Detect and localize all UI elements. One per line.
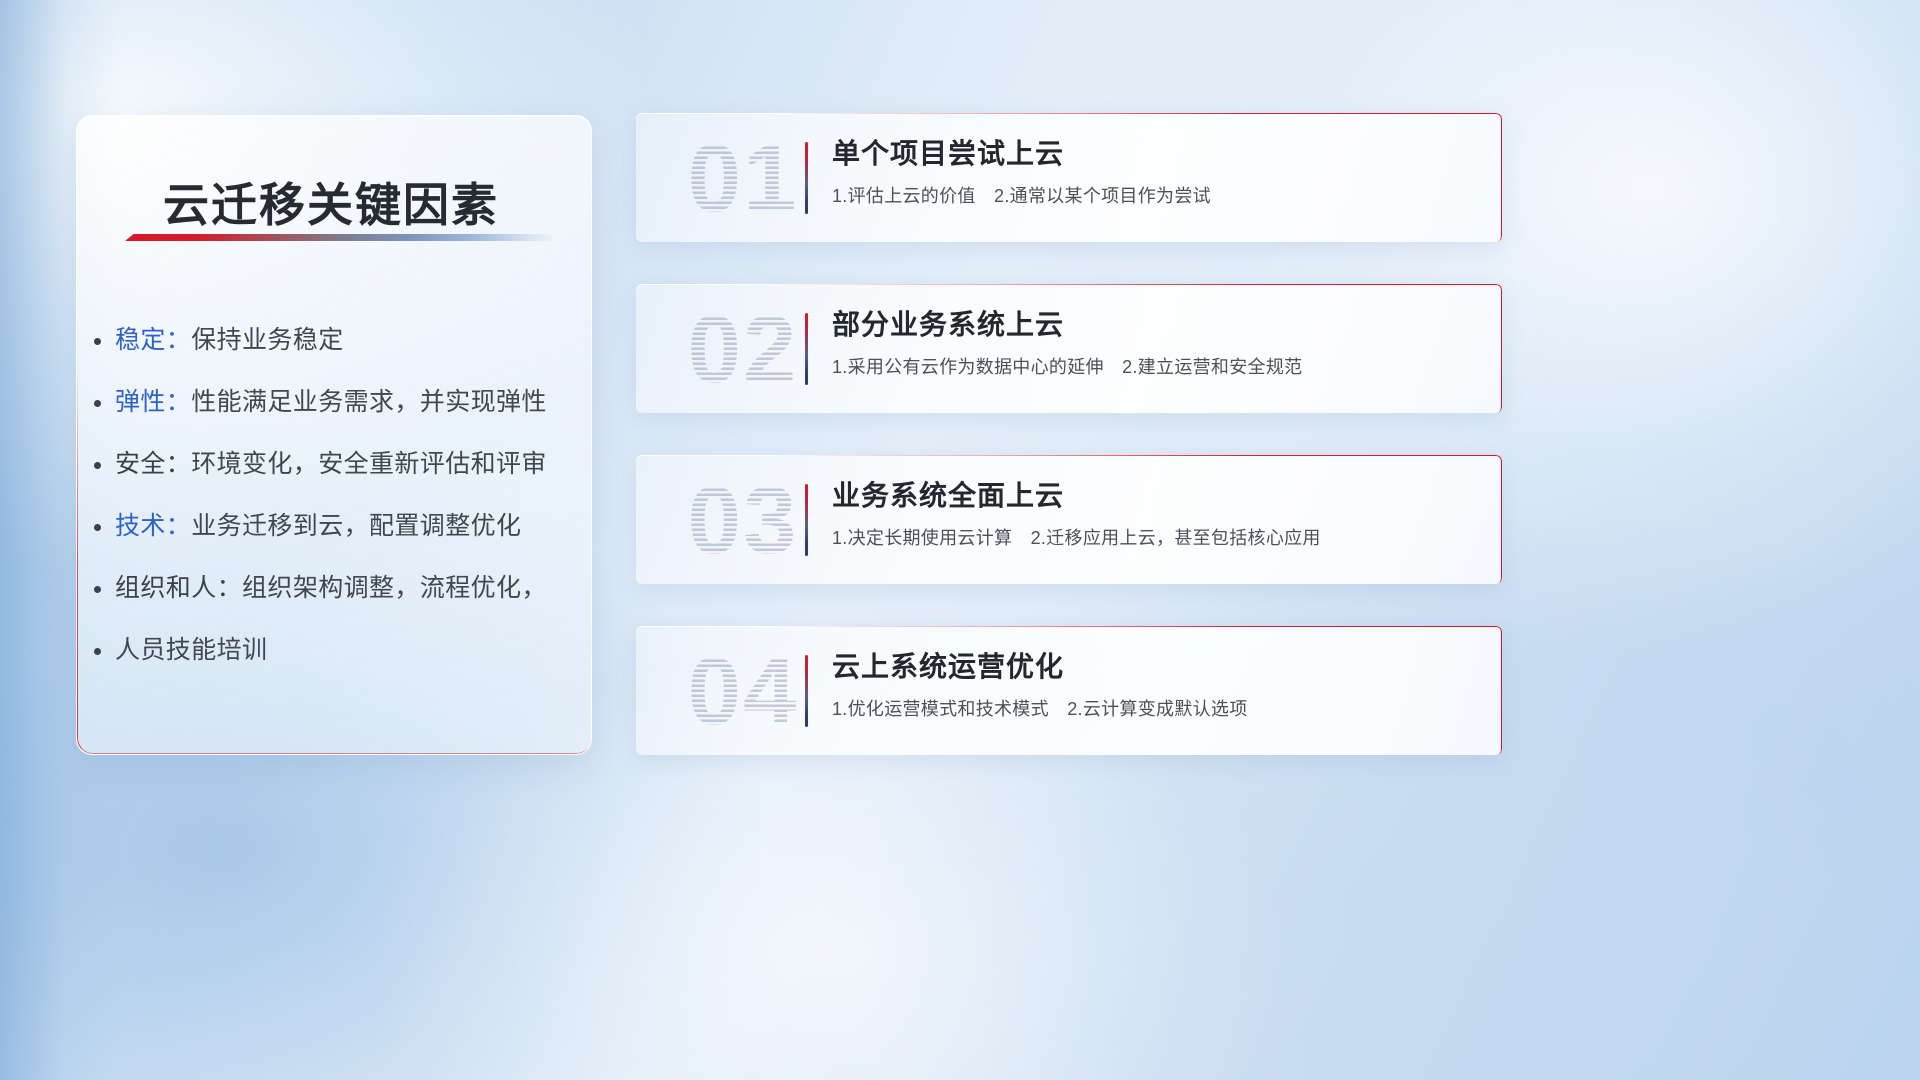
migration-stage-cards: 0101单个项目尝试上云1.评估上云的价值 2.通常以某个项目作为尝试0202部… — [636, 113, 1502, 797]
stage-card-description: 1.采用公有云作为数据中心的延伸 2.建立运营和安全规范 — [832, 354, 1482, 380]
key-factor-text: 保持业务稳定 — [191, 326, 343, 354]
key-factor-item: 人员技能培训 — [115, 619, 585, 681]
key-factor-item: 组织和人：组织架构调整，流程优化， — [115, 557, 585, 619]
key-factor-text: 环境变化，安全重新评估和评审 — [191, 450, 547, 478]
stage-card-title: 单个项目尝试上云 — [832, 135, 1482, 173]
stage-card-body: 业务系统全面上云1.决定长期使用云计算 2.迁移应用上云，甚至包括核心应用 — [832, 477, 1482, 551]
key-factor-label: 组织和人： — [115, 574, 242, 602]
stage-number-ghost: 02 — [658, 298, 828, 402]
key-factors-list: 稳定：保持业务稳定弹性：性能满足业务需求，并实现弹性安全：环境变化，安全重新评估… — [115, 309, 585, 681]
stage-divider-bar — [805, 655, 808, 727]
stage-card-body: 云上系统运营优化1.优化运营模式和技术模式 2.云计算变成默认选项 — [832, 648, 1482, 722]
key-factor-text: 业务迁移到云，配置调整优化 — [191, 512, 521, 540]
stage-number-ghost: 04 — [658, 640, 828, 744]
key-factor-item: 技术：业务迁移到云，配置调整优化 — [115, 495, 585, 557]
stage-card[interactable]: 0101单个项目尝试上云1.评估上云的价值 2.通常以某个项目作为尝试 — [636, 113, 1502, 242]
title-underline-gradient — [125, 234, 555, 241]
stage-card[interactable]: 0303业务系统全面上云1.决定长期使用云计算 2.迁移应用上云，甚至包括核心应… — [636, 455, 1502, 584]
key-factor-item: 稳定：保持业务稳定 — [115, 309, 585, 371]
stage-divider-bar — [805, 313, 808, 385]
key-factor-label: 安全： — [115, 450, 191, 478]
panel-title: 云迁移关键因素 — [163, 169, 499, 235]
stage-card-title: 云上系统运营优化 — [832, 648, 1482, 686]
key-factors-panel: 云迁移关键因素 稳定：保持业务稳定弹性：性能满足业务需求，并实现弹性安全：环境变… — [76, 115, 592, 755]
key-factor-label: 技术： — [115, 512, 191, 540]
stage-card-description: 1.优化运营模式和技术模式 2.云计算变成默认选项 — [832, 696, 1482, 722]
stage-card-description: 1.评估上云的价值 2.通常以某个项目作为尝试 — [832, 183, 1482, 209]
stage-divider-bar — [805, 484, 808, 556]
key-factor-label: 稳定： — [115, 326, 191, 354]
stage-card[interactable]: 0202部分业务系统上云1.采用公有云作为数据中心的延伸 2.建立运营和安全规范 — [636, 284, 1502, 413]
stage-card-title: 部分业务系统上云 — [832, 306, 1482, 344]
key-factor-text: 性能满足业务需求，并实现弹性 — [191, 388, 547, 416]
key-factor-item: 弹性：性能满足业务需求，并实现弹性 — [115, 371, 585, 433]
key-factor-text: 人员技能培训 — [115, 636, 267, 664]
key-factor-label: 弹性： — [115, 388, 191, 416]
stage-card-body: 部分业务系统上云1.采用公有云作为数据中心的延伸 2.建立运营和安全规范 — [832, 306, 1482, 380]
key-factor-item: 安全：环境变化，安全重新评估和评审 — [115, 433, 585, 495]
stage-card-body: 单个项目尝试上云1.评估上云的价值 2.通常以某个项目作为尝试 — [832, 135, 1482, 209]
stage-card-description: 1.决定长期使用云计算 2.迁移应用上云，甚至包括核心应用 — [832, 525, 1482, 551]
stage-card-title: 业务系统全面上云 — [832, 477, 1482, 515]
key-factor-text: 组织架构调整，流程优化， — [242, 574, 547, 602]
stage-card[interactable]: 0404云上系统运营优化1.优化运营模式和技术模式 2.云计算变成默认选项 — [636, 626, 1502, 755]
stage-number-ghost: 03 — [658, 469, 828, 573]
stage-divider-bar — [805, 142, 808, 214]
stage-number-ghost: 01 — [658, 127, 828, 231]
